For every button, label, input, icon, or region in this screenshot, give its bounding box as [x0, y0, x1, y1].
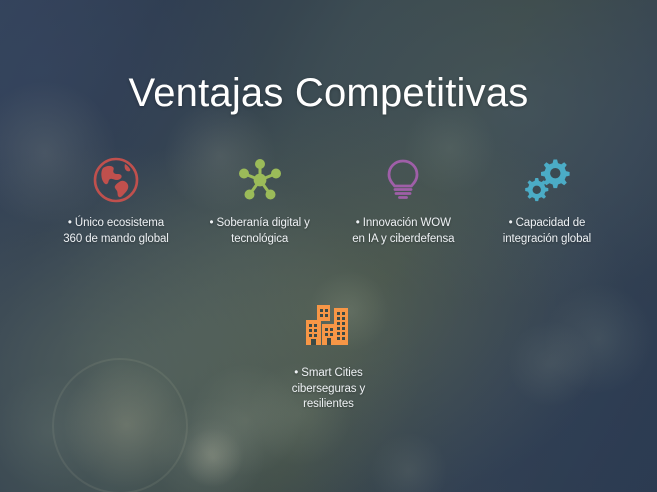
presentation-slide: Ventajas Competitivas • Único ecosistema…	[0, 0, 657, 492]
city-buildings-icon	[303, 298, 355, 354]
advantage-caption: • Soberanía digital y tecnológica	[209, 216, 309, 247]
advantage-caption: • Capacidad de integración global	[503, 216, 591, 247]
advantage-item-innovation[interactable]: • Innovación WOW en IA y ciberdefensa	[333, 152, 473, 247]
advantage-item-globe[interactable]: • Único ecosistema 360 de mando global	[46, 152, 186, 247]
globe-icon	[91, 152, 141, 208]
gears-icon	[522, 152, 572, 208]
advantage-item-network[interactable]: • Soberanía digital y tecnológica	[190, 152, 330, 247]
advantages-row-bottom: • Smart Cities ciberseguras y resiliente…	[0, 298, 657, 413]
lightbulb-icon	[378, 152, 428, 208]
advantages-row-top: • Único ecosistema 360 de mando global	[46, 152, 617, 247]
advantage-caption: • Innovación WOW en IA y ciberdefensa	[352, 216, 454, 247]
advantage-item-integration[interactable]: • Capacidad de integración global	[477, 152, 617, 247]
network-hub-icon	[235, 152, 285, 208]
page-title: Ventajas Competitivas	[0, 71, 657, 115]
advantage-item-smart-cities[interactable]: • Smart Cities ciberseguras y resiliente…	[259, 298, 399, 413]
advantage-caption: • Smart Cities ciberseguras y resiliente…	[292, 366, 365, 413]
advantage-caption: • Único ecosistema 360 de mando global	[63, 216, 169, 247]
